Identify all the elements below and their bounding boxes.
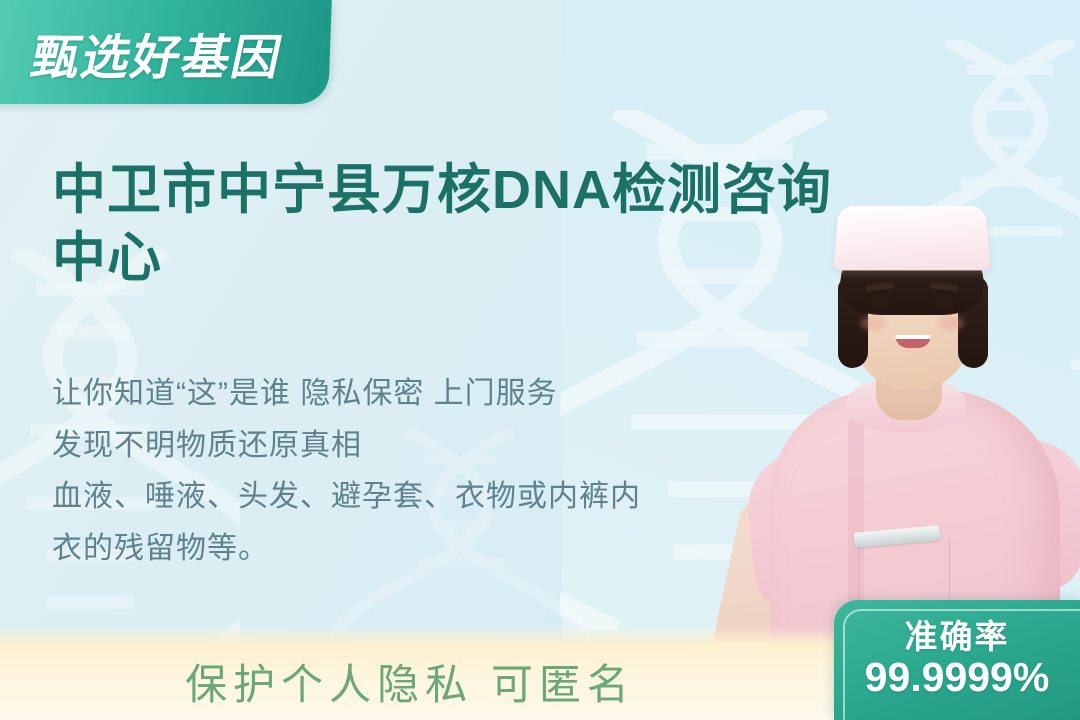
- nurse-cheek-right: [938, 316, 964, 330]
- nurse-cap: [833, 206, 990, 271]
- description-line: 发现不明物质还原真相: [52, 420, 772, 472]
- privacy-tagline: 保护个人隐私 可匿名: [0, 651, 820, 712]
- poster-canvas: 保护个人隐私 可匿名 甄选好基因 中卫市中宁县万核DNA检测咨询中心 让你知道“…: [0, 0, 1080, 720]
- accuracy-badge: 准确率 99.9999%: [834, 600, 1080, 720]
- description-line: 血液、唾液、头发、避孕套、衣物或内裤内: [52, 471, 772, 523]
- nurse-eye-left: [868, 299, 890, 308]
- nurse-eye-right: [932, 299, 954, 308]
- nurse-cheek-left: [860, 316, 886, 330]
- accuracy-value: 99.9999%: [834, 654, 1080, 701]
- page-title: 中卫市中宁县万核DNA检测咨询中心: [52, 156, 842, 292]
- service-description: 让你知道“这”是谁 隐私保密 上门服务 发现不明物质还原真相 血液、唾液、头发、…: [52, 368, 772, 574]
- description-line: 让你知道“这”是谁 隐私保密 上门服务: [52, 368, 772, 420]
- brand-ribbon-label: 甄选好基因: [27, 18, 329, 88]
- accuracy-label: 准确率: [834, 610, 1080, 658]
- description-line: 衣的残留物等。: [52, 523, 772, 575]
